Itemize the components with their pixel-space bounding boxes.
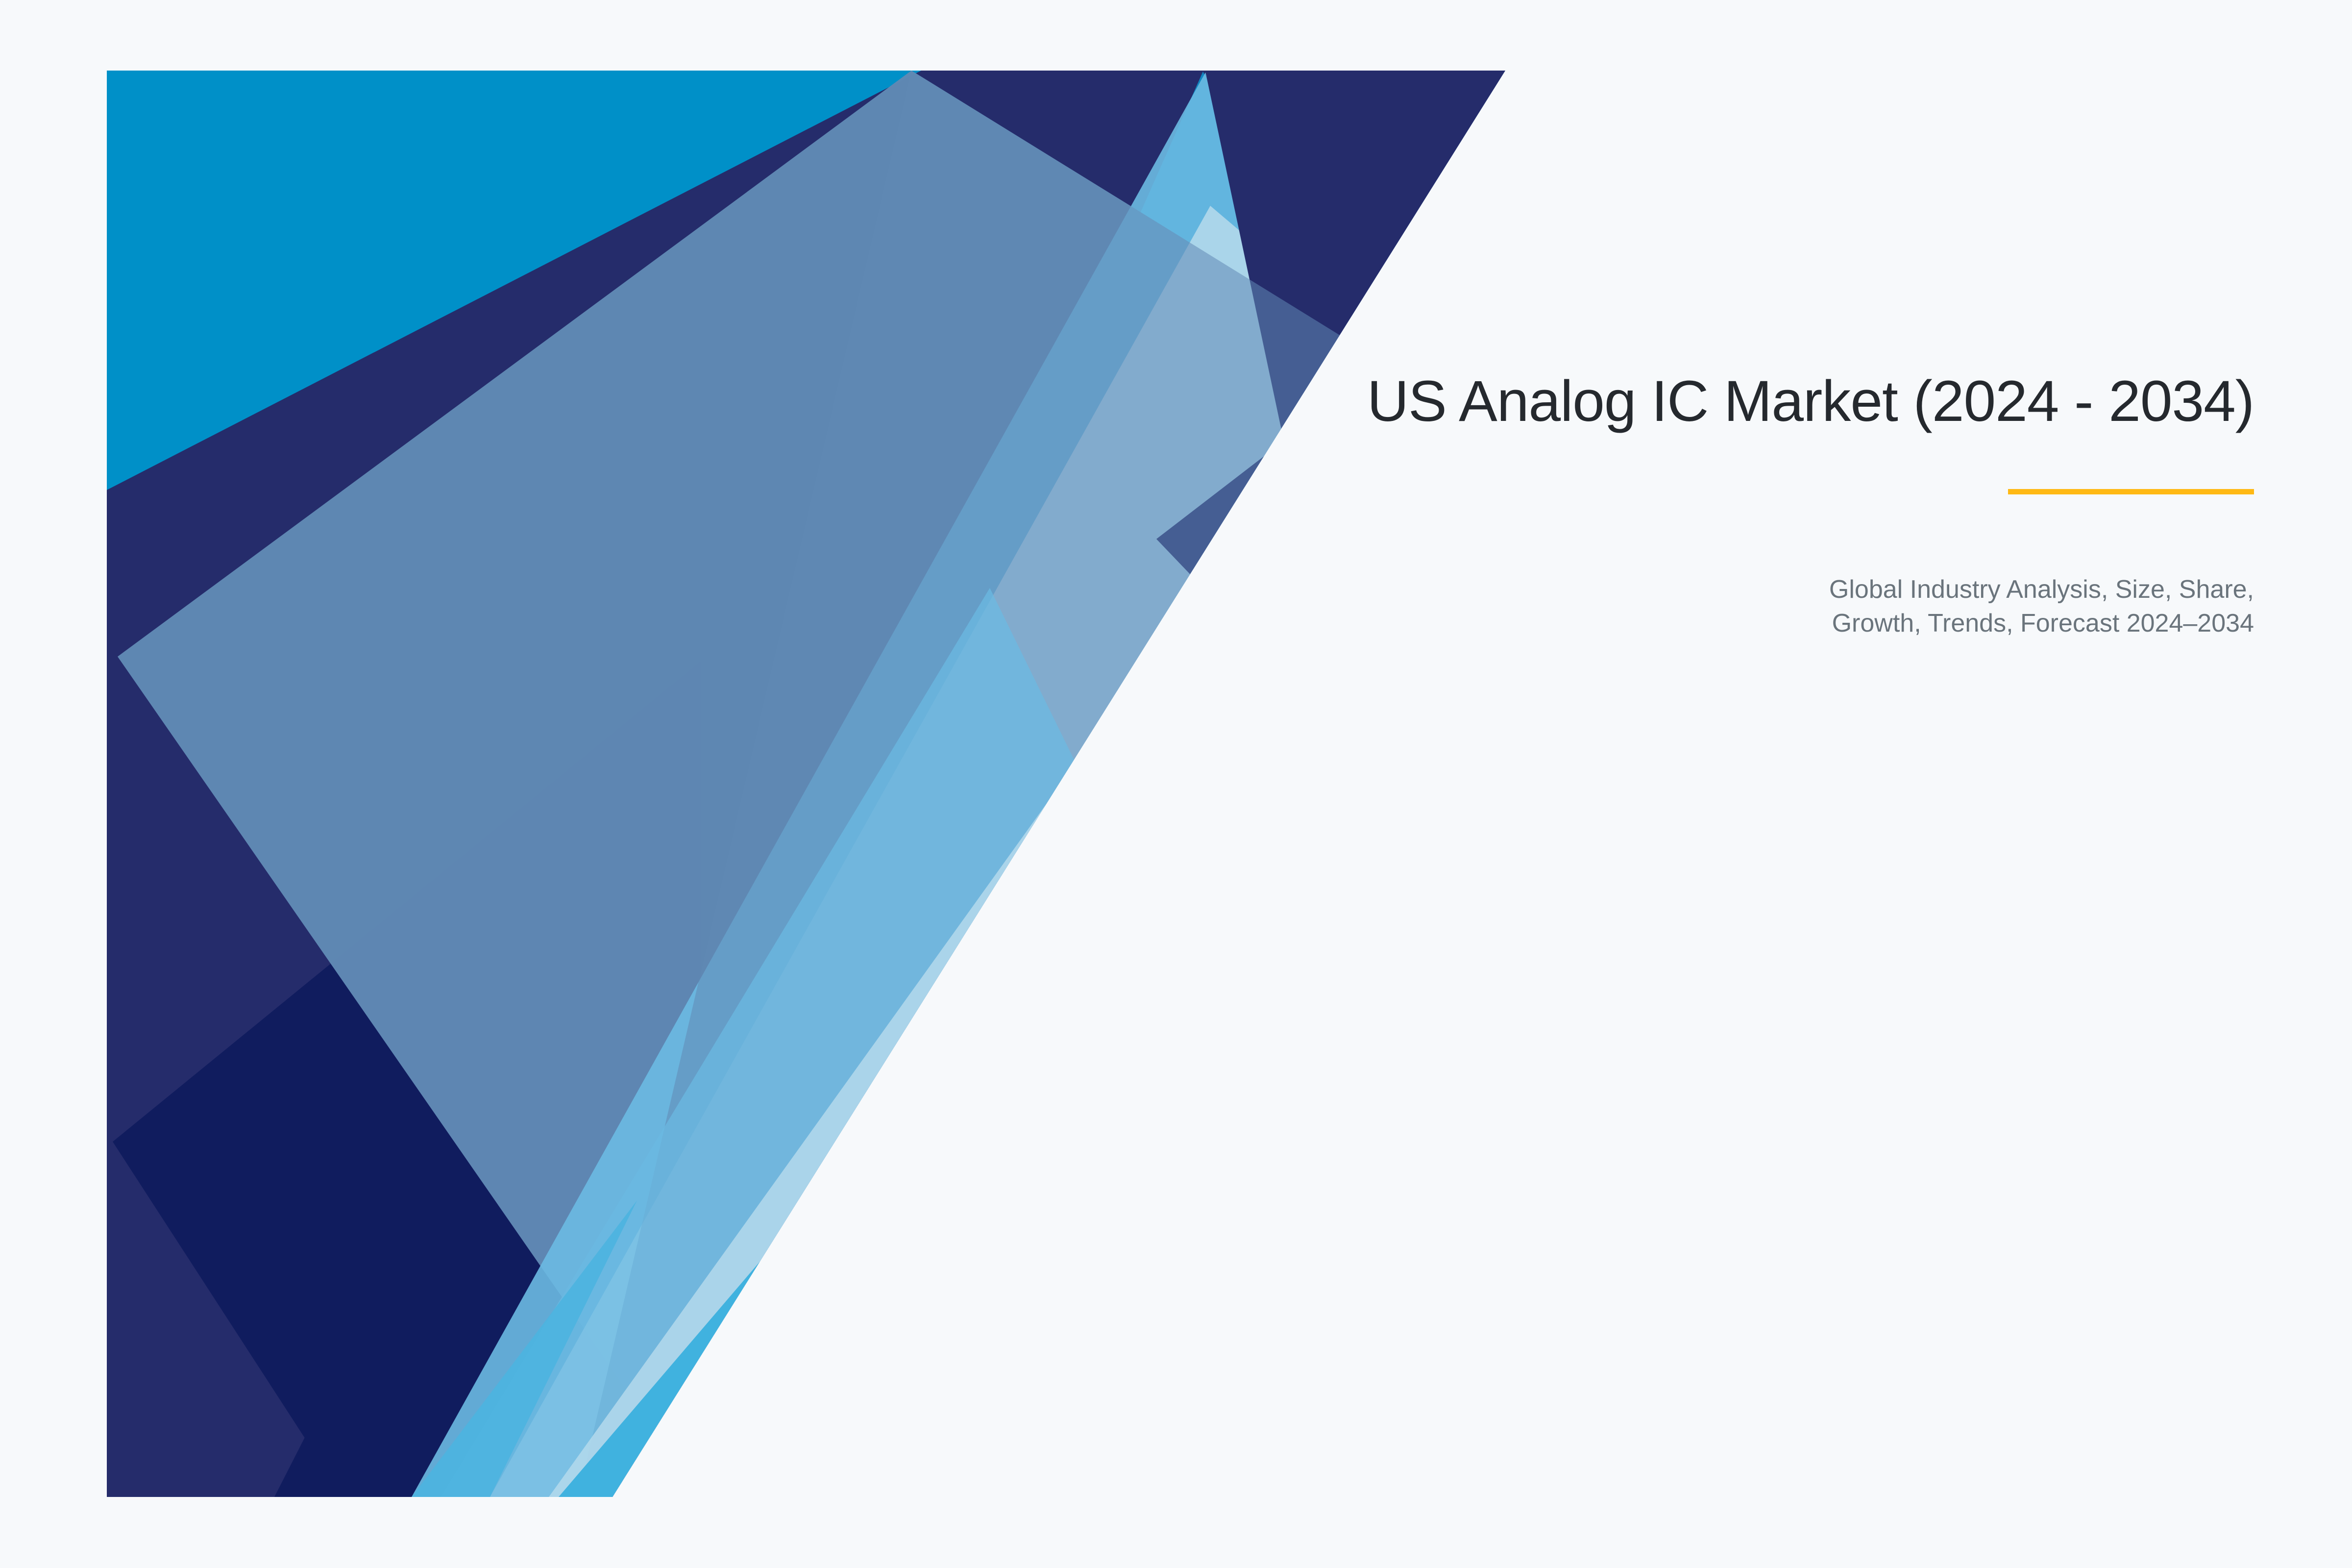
subtitle-line-2: Growth, Trends, Forecast 2024–2034 — [980, 607, 2254, 640]
accent-rule — [2008, 489, 2254, 494]
page-title: US Analog IC Market (2024 - 2034) — [980, 372, 2254, 430]
accent-rule-container — [980, 489, 2254, 494]
subtitle-line-1: Global Industry Analysis, Size, Share, — [980, 573, 2254, 607]
cover-page: US Analog IC Market (2024 - 2034) Global… — [0, 0, 2352, 1568]
page-subtitle: Global Industry Analysis, Size, Share, G… — [980, 573, 2254, 640]
abstract-geometric-cover-graphic — [0, 0, 2352, 1568]
cover-text-block: US Analog IC Market (2024 - 2034) Global… — [980, 372, 2254, 640]
